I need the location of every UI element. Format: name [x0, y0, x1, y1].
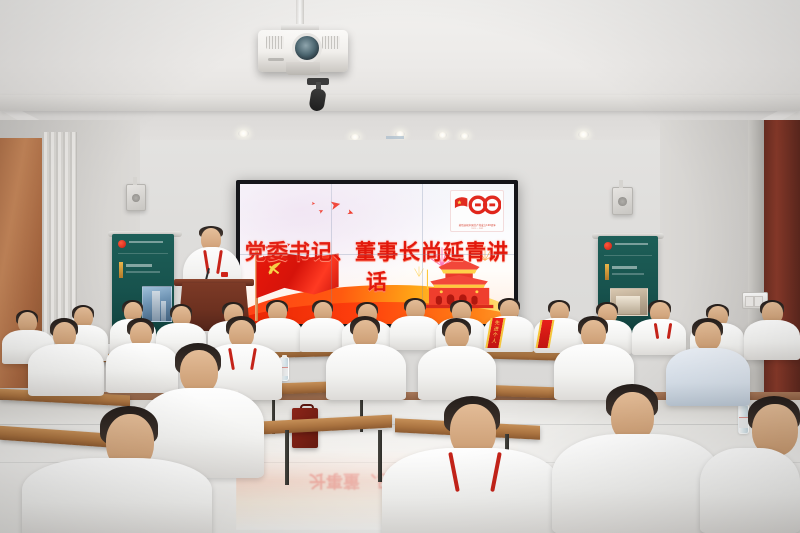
dove-icon: ➤	[318, 208, 325, 216]
wall-speaker-left	[126, 184, 146, 211]
bottle-label	[739, 417, 748, 428]
banner-building	[616, 296, 640, 314]
desk-leg	[285, 430, 289, 485]
banner-subline	[612, 273, 644, 275]
banner-company-line	[129, 241, 163, 243]
banner-logo-left	[118, 240, 126, 248]
downlight	[238, 130, 249, 137]
slide-title: 党委书记、董事长尚延青讲话	[240, 236, 514, 296]
anniversary-logo-line2: 1921 — 2021	[451, 228, 503, 230]
speaker-cone	[618, 197, 626, 206]
anniversary-logo-line1: 热烈庆祝中国共产党成立100周年	[451, 223, 503, 227]
person-head	[695, 322, 721, 351]
projector-lens	[292, 33, 322, 63]
person-shirt	[744, 320, 800, 360]
bottle-cap	[282, 355, 287, 358]
switch-key[interactable]	[745, 296, 754, 307]
wall-speaker-bracket-right	[619, 180, 623, 188]
banner-photo-left	[142, 286, 172, 322]
desk-leg	[378, 430, 382, 482]
banner-divider	[604, 255, 652, 256]
person-shirt	[666, 348, 750, 406]
person-shirt	[382, 448, 560, 533]
dove-icon: ➤	[311, 202, 316, 208]
banner-building	[152, 291, 160, 321]
bottle-label	[281, 367, 288, 376]
person-shirt	[700, 448, 800, 533]
projector-mount-pole	[296, 0, 304, 26]
projector-indicator-leds	[268, 58, 284, 61]
dove-icon: ➤	[346, 208, 355, 218]
person-shirt	[552, 434, 720, 533]
banner-company-line	[615, 243, 648, 245]
person-shirt	[28, 344, 104, 396]
banner-accent	[605, 264, 609, 280]
banner-building	[161, 301, 166, 321]
banner-divider	[118, 253, 168, 254]
banner-headline	[612, 266, 637, 269]
panel-seam	[240, 254, 514, 255]
person-shirt	[390, 316, 440, 350]
banner-headline	[126, 264, 152, 267]
projector-vent-right	[322, 36, 340, 49]
conference-room-photo: ➤ ➤ ➤ ➤ ➤ ➤	[0, 0, 800, 533]
speaker-cone	[132, 194, 140, 203]
ceiling-marker	[386, 136, 404, 139]
projector-vent-left	[266, 36, 284, 49]
person-head	[445, 322, 469, 349]
projector-lens-shroud	[286, 62, 320, 75]
wall-speaker-bracket-left	[133, 177, 137, 185]
person-shirt	[326, 344, 406, 400]
person-shirt	[418, 346, 496, 400]
sash-text: 先进个人	[490, 320, 501, 344]
anniversary-100-mark	[453, 194, 501, 217]
speaker-badge	[221, 272, 228, 277]
downlight	[460, 133, 469, 139]
wall-speaker-right	[612, 187, 633, 215]
banner-subline	[126, 271, 160, 273]
person-shirt	[106, 343, 178, 393]
downlight	[438, 132, 447, 138]
downlight	[578, 131, 589, 138]
banner-logo-right	[604, 242, 612, 250]
person-shirt	[22, 458, 212, 533]
banner-accent	[119, 262, 123, 278]
ceiling-beam	[0, 95, 800, 111]
anniversary-logo: 热烈庆祝中国共产党成立100周年 1921 — 2021	[450, 190, 504, 233]
